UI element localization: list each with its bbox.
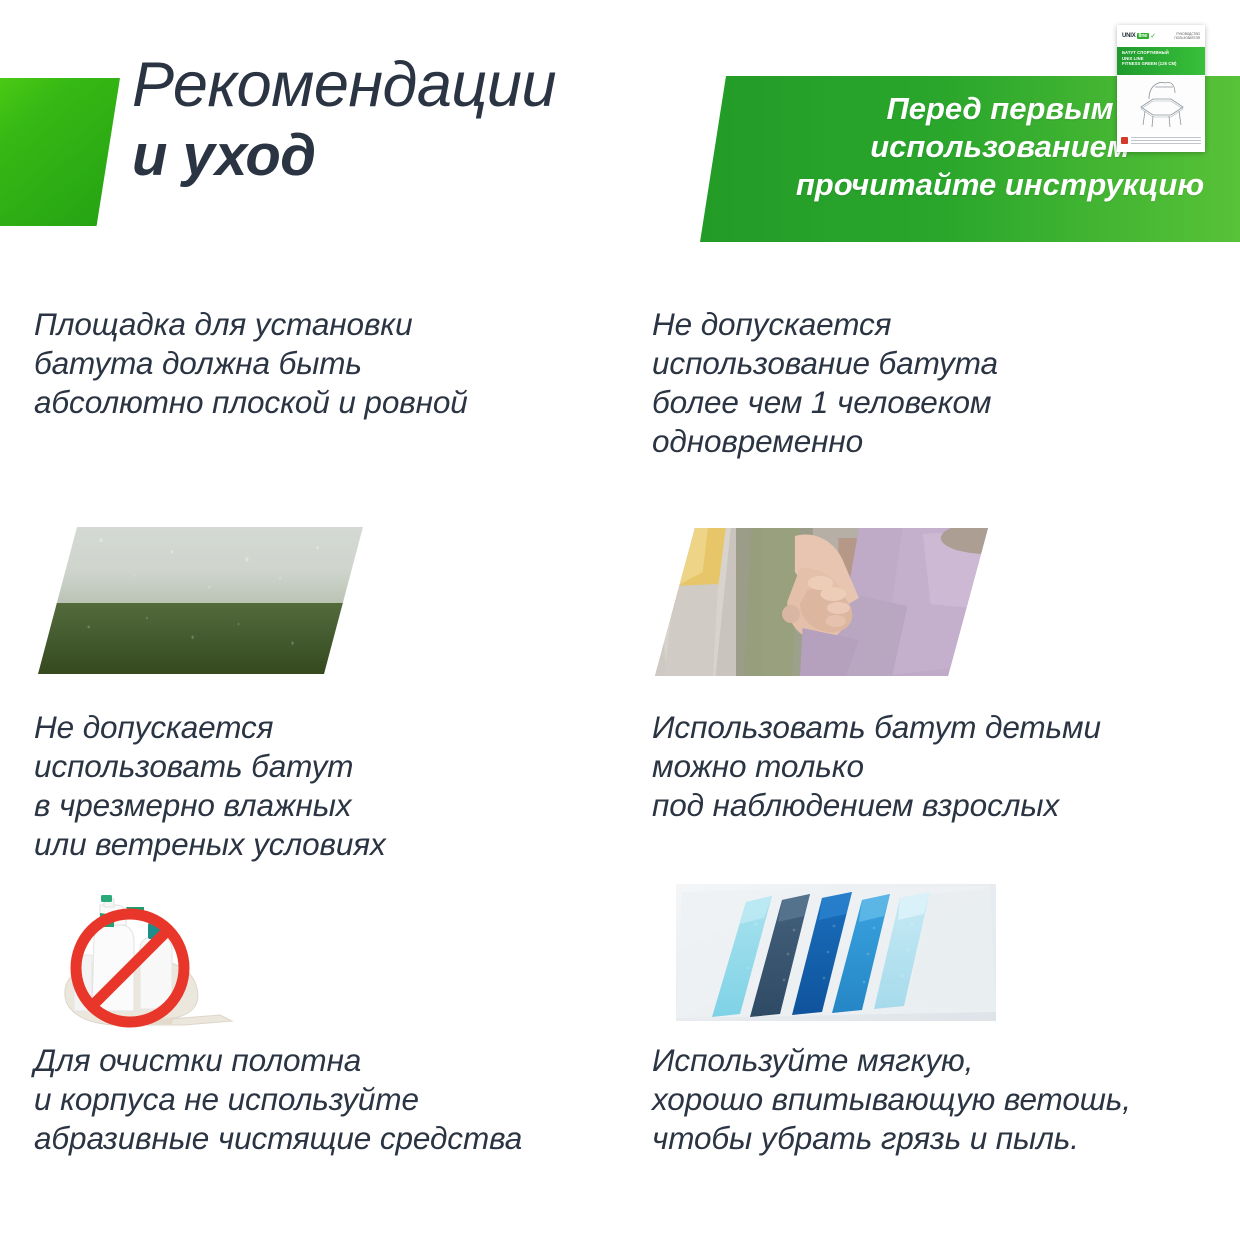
tip-line: Для очистки полотна bbox=[34, 1041, 522, 1080]
tip-line: Используйте мягкую, bbox=[652, 1041, 1131, 1080]
page-title-line-2: и уход bbox=[132, 124, 732, 188]
tip-line: хорошо впитывающую ветошь, bbox=[652, 1080, 1131, 1119]
page-title: Рекомендации и уход bbox=[132, 52, 732, 188]
manual-title-band: БАТУТ СПОРТИВНЫЙ UNIX LINE FITNESS GREEN… bbox=[1117, 47, 1205, 75]
tip-line: можно только bbox=[652, 747, 1101, 786]
manual-brand-mark: line bbox=[1137, 33, 1150, 39]
tip-no-wet-windy-text: Не допускается использовать батут в чрез… bbox=[34, 708, 386, 864]
tip-flat-surface-text: Площадка для установки батута должна быт… bbox=[34, 305, 468, 422]
manual-footer-note bbox=[1117, 135, 1205, 152]
tip-adult-supervision-text: Использовать батут детьми можно только п… bbox=[652, 708, 1101, 825]
page-title-line-1: Рекомендации bbox=[132, 52, 732, 118]
tip-line: использование батута bbox=[652, 344, 998, 383]
tip-line: под наблюдением взрослых bbox=[652, 786, 1101, 825]
manual-header: UNIX line ✓ РУКОВОДСТВО ПОЛЬЗОВАТЕЛЯ bbox=[1117, 25, 1205, 47]
water-droplets-overlay bbox=[38, 527, 363, 674]
tip-line: абсолютно плоской и ровной bbox=[34, 383, 468, 422]
tip-line: батута должна быть bbox=[34, 344, 468, 383]
microfiber-cloth-rolls-photo bbox=[676, 884, 996, 1021]
warning-icon bbox=[1121, 137, 1128, 144]
adult-child-holding-hands-photo bbox=[655, 528, 988, 676]
manual-trampoline-diagram bbox=[1117, 75, 1205, 135]
tip-soft-cloth-text: Используйте мягкую, хорошо впитывающую в… bbox=[652, 1041, 1131, 1158]
tip-line: Не допускается bbox=[652, 305, 998, 344]
prohibited-cleaning-products-icon bbox=[44, 893, 254, 1028]
tip-line: использовать батут bbox=[34, 747, 386, 786]
manual-band-line-3: FITNESS GREEN (125 CM) bbox=[1122, 61, 1200, 67]
holding-hands-illustration bbox=[655, 528, 988, 676]
tip-line: и корпуса не используйте bbox=[34, 1080, 522, 1119]
manual-brand: UNIX bbox=[1122, 33, 1136, 39]
manual-footer-text-lines bbox=[1131, 137, 1201, 146]
rolled-towels-illustration bbox=[676, 884, 996, 1021]
banner-line-3: прочитайте инструкцию bbox=[780, 166, 1220, 204]
tip-line: или ветреных условиях bbox=[34, 825, 386, 864]
tip-line: одновременно bbox=[652, 422, 998, 461]
manual-top-note: РУКОВОДСТВО ПОЛЬЗОВАТЕЛЯ bbox=[1174, 32, 1200, 40]
tip-line: более чем 1 человеком bbox=[652, 383, 998, 422]
user-manual-cover-image: UNIX line ✓ РУКОВОДСТВО ПОЛЬЗОВАТЕЛЯ БАТ… bbox=[1117, 25, 1205, 152]
manual-top-note-line-2: ПОЛЬЗОВАТЕЛЯ bbox=[1174, 36, 1200, 40]
tip-line: чтобы убрать грязь и пыль. bbox=[652, 1119, 1131, 1158]
rain-on-window-photo bbox=[38, 527, 363, 674]
tip-line: Не допускается bbox=[34, 708, 386, 747]
tip-line: Площадка для установки bbox=[34, 305, 468, 344]
infographic-page: Рекомендации и уход Перед первым использ… bbox=[0, 0, 1240, 1239]
unix-line-logo: UNIX line ✓ bbox=[1122, 32, 1156, 40]
leaf-icon: ✓ bbox=[1150, 32, 1156, 40]
tip-line: в чрезмерно влажных bbox=[34, 786, 386, 825]
header-green-accent-shape bbox=[0, 78, 120, 226]
rain-photo-content bbox=[38, 527, 363, 674]
tip-one-person-only-text: Не допускается использование батута боле… bbox=[652, 305, 998, 461]
tip-line: абразивные чистящие средства bbox=[34, 1119, 522, 1158]
tip-no-abrasives-text: Для очистки полотна и корпуса не использ… bbox=[34, 1041, 522, 1158]
trampoline-line-drawing bbox=[1125, 77, 1197, 133]
tip-line: Использовать батут детьми bbox=[652, 708, 1101, 747]
cleaning-products-no-sign bbox=[44, 893, 254, 1028]
